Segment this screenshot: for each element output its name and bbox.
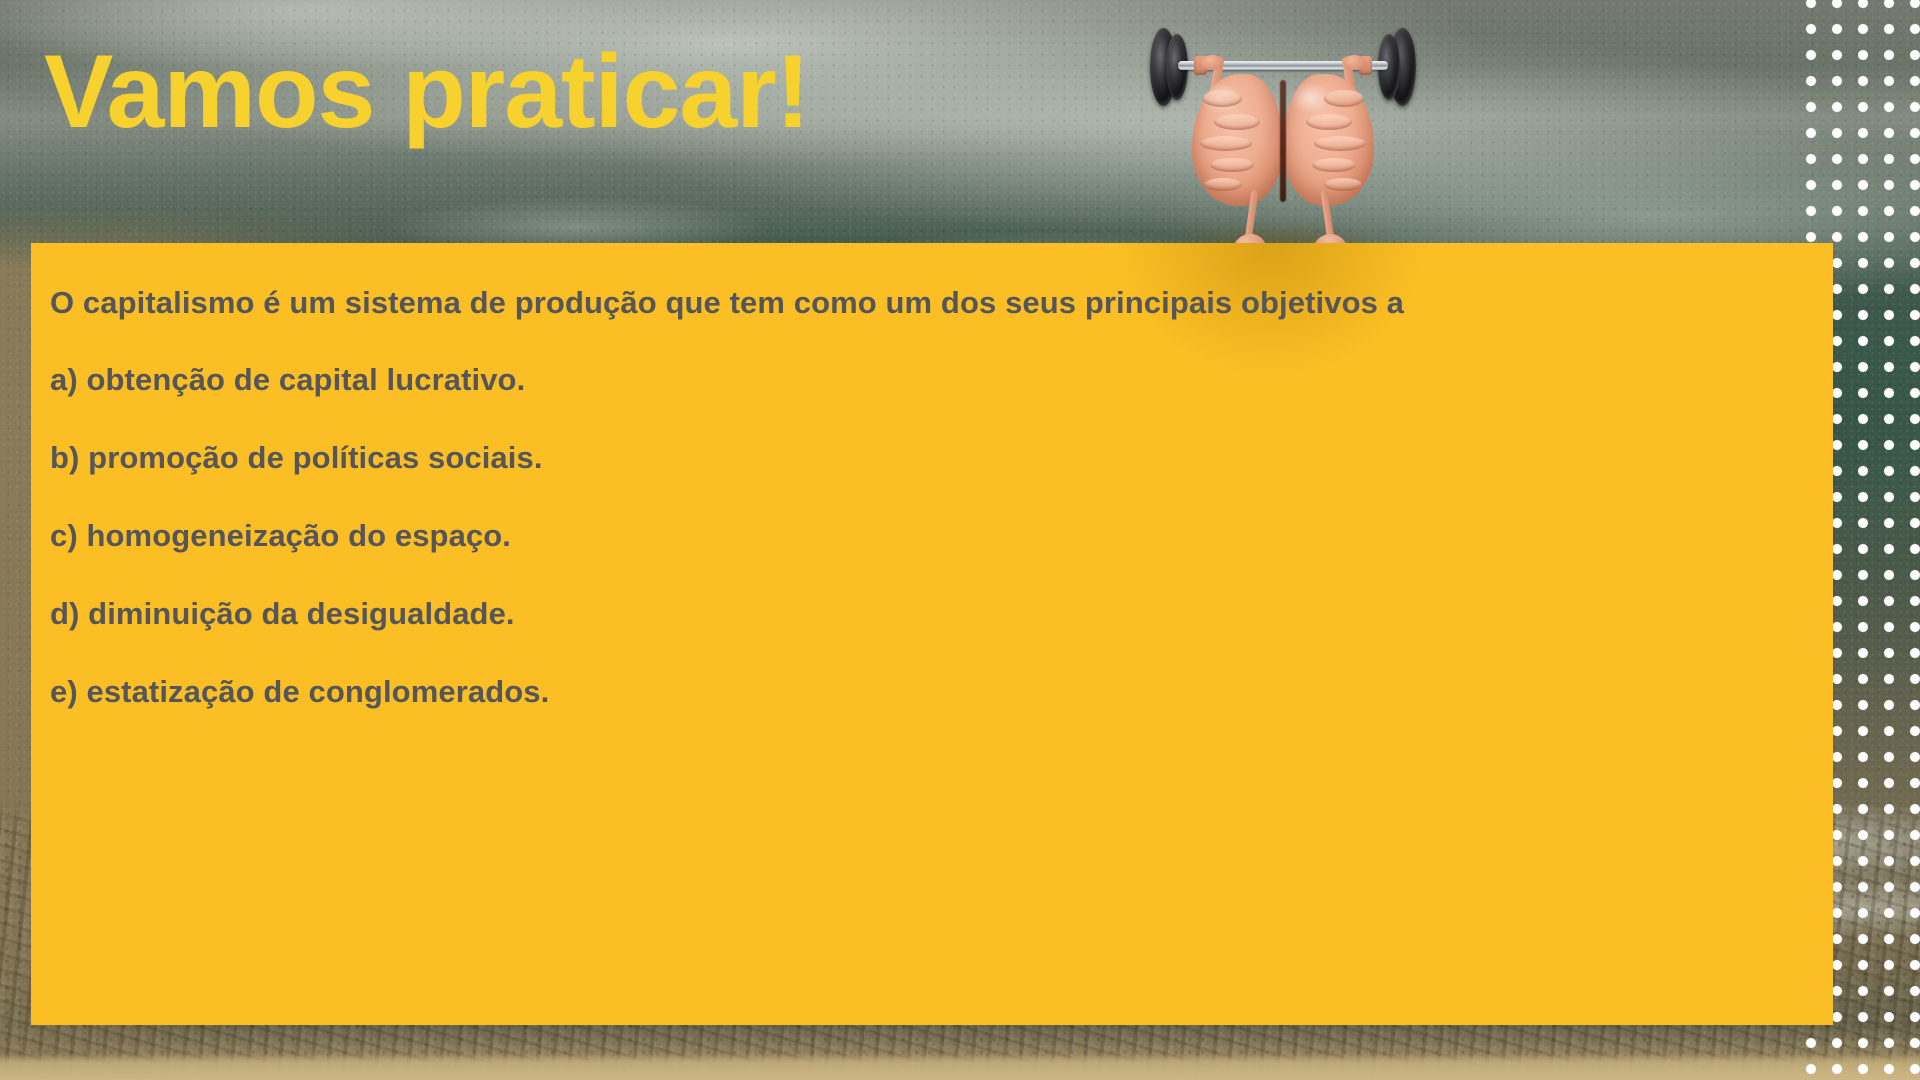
brain-gyrus: [1202, 90, 1242, 107]
background-dry-sand-strip: [0, 1054, 1920, 1080]
answer-option-b[interactable]: b) promoção de políticas sociais.: [50, 442, 1833, 473]
brain-lobe-right: [1283, 74, 1374, 206]
brain-lobe-left: [1192, 74, 1283, 206]
question-card: O capitalismo é um sistema de produção q…: [31, 243, 1833, 1025]
brain-gyrus: [1314, 136, 1366, 151]
brain-gyrus: [1324, 178, 1362, 191]
mascot-hand-right: [1343, 55, 1365, 70]
brain-longitudinal-fissure: [1280, 80, 1286, 202]
question-stem: O capitalismo é um sistema de produção q…: [50, 287, 1833, 318]
answer-option-a[interactable]: a) obtenção de capital lucrativo.: [50, 364, 1833, 395]
brain-gyrus: [1210, 158, 1254, 172]
answer-option-c[interactable]: c) homogeneização do espaço.: [50, 520, 1833, 551]
page-title: Vamos praticar!: [44, 40, 809, 144]
brain-gyrus: [1306, 114, 1352, 130]
answer-option-d[interactable]: d) diminuição da desigualdade.: [50, 598, 1833, 629]
brain-gyrus: [1214, 114, 1260, 130]
mascot-hand-left: [1201, 55, 1223, 70]
brain-icon: [1192, 74, 1374, 206]
brain-gyrus: [1324, 90, 1364, 107]
brain-lifting-barbell-illustration: [1148, 8, 1418, 258]
brain-gyrus: [1204, 178, 1242, 191]
slide-canvas: Vamos praticar!: [0, 0, 1920, 1080]
brain-gyrus: [1312, 158, 1356, 172]
brain-gyrus: [1200, 136, 1252, 151]
answer-option-e[interactable]: e) estatização de conglomerados.: [50, 676, 1833, 707]
